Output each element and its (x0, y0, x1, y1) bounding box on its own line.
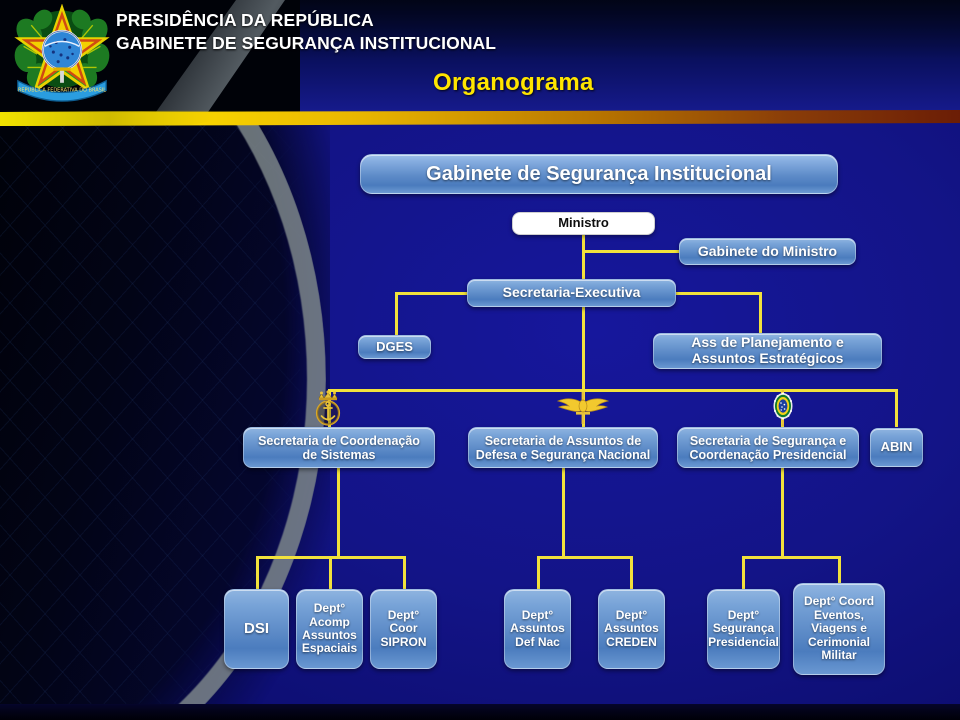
node-dacae-line-1: Dept° (314, 602, 345, 615)
connector-secdef-bus (537, 556, 633, 559)
connector-ministro-gabmin (582, 250, 682, 253)
node-dcevcm-line-5: Militar (821, 649, 856, 662)
node-secdef-line-2: Defesa e Segurança Nacional (476, 448, 650, 462)
node-secretaria-executiva[interactable]: Secretaria-Executiva (467, 279, 676, 307)
node-dacreden-line-3: CREDEN (606, 636, 657, 649)
node-dcsipron-line-3: SIPRON (380, 636, 426, 649)
node-dadn-line-3: Def Nac (515, 636, 560, 649)
node-ministro[interactable]: Ministro (512, 212, 655, 235)
army-star-icon (772, 390, 794, 426)
node-dcevcm-line-4: Cerimonial (808, 636, 870, 649)
organogram-slide: REPUBLICA FEDERATIVA DO BRASIL PRESIDÊNC… (0, 0, 960, 720)
node-dept-seguranca-presidencial[interactable]: Dept° Segurança Presidencial (707, 589, 780, 669)
connector-secexec-asspla-v (759, 292, 762, 334)
node-dacreden-line-2: Assuntos (604, 622, 659, 635)
node-dcsipron-line-1: Dept° (388, 609, 419, 622)
node-abin[interactable]: ABIN (870, 428, 923, 467)
node-dcevcm-line-1: Dept° Coord (804, 595, 874, 608)
connector-secdef-down (562, 468, 565, 558)
node-dacae-line-4: Espaciais (302, 642, 357, 655)
connector-secsis-to-dcsipron (403, 556, 406, 589)
node-ass-planejamento-assuntos-estrategicos[interactable]: Ass de Planejamento e Assuntos Estratégi… (653, 333, 882, 369)
node-dsp-line-3: Presidencial (708, 636, 779, 649)
connector-secdef-to-dadn (537, 556, 540, 589)
connector-main-bus (328, 389, 898, 392)
node-dsp-line-2: Segurança (713, 622, 774, 635)
node-dsi[interactable]: DSI (224, 589, 289, 669)
node-gabinete-do-ministro[interactable]: Gabinete do Ministro (679, 238, 856, 265)
node-secsis-line-2: de Sistemas (303, 448, 376, 462)
connector-secpres-to-dsp (742, 556, 745, 589)
node-secdef-line-1: Secretaria de Assuntos de (485, 434, 642, 448)
node-dept-coor-sipron[interactable]: Dept° Coor SIPRON (370, 589, 437, 669)
node-asspla-line-1: Ass de Planejamento e (691, 335, 844, 351)
connector-secdef-to-dacreden (630, 556, 633, 589)
node-dacae-line-2: Acomp (309, 616, 350, 629)
navy-anchor-icon (313, 389, 343, 427)
connector-secsis-down (337, 468, 340, 558)
connector-ministro-trunk (582, 234, 585, 392)
node-dacae-line-3: Assuntos (302, 629, 357, 642)
header-line-1: PRESIDÊNCIA DA REPÚBLICA (116, 9, 496, 32)
node-dcevcm-line-3: Viagens e (811, 622, 867, 635)
node-dges[interactable]: DGES (358, 335, 431, 359)
node-dept-acomp-assuntos-espaciais[interactable]: Dept° Acomp Assuntos Espaciais (296, 589, 363, 669)
node-gabinete-seguranca-institucional[interactable]: Gabinete de Segurança Institucional (360, 154, 838, 194)
node-dept-assuntos-def-nac[interactable]: Dept° Assuntos Def Nac (504, 589, 571, 669)
node-secpres-line-2: Coordenação Presidencial (689, 448, 846, 462)
svg-text:REPUBLICA FEDERATIVA DO BRASIL: REPUBLICA FEDERATIVA DO BRASIL (18, 87, 106, 93)
connector-secpres-bus (742, 556, 841, 559)
node-asspla-line-2: Assuntos Estratégicos (692, 351, 844, 367)
page-title: Organograma (433, 69, 594, 97)
connector-secsis-to-dsi (256, 556, 259, 589)
node-secretaria-assuntos-defesa-seguranca-nacional[interactable]: Secretaria de Assuntos de Defesa e Segur… (468, 427, 658, 468)
node-dacreden-line-1: Dept° (616, 609, 647, 622)
bottom-strip (0, 704, 960, 720)
node-dept-coord-eventos-viagens-cerimonial-militar[interactable]: Dept° Coord Eventos, Viagens e Cerimonia… (793, 583, 885, 675)
node-dadn-line-2: Assuntos (510, 622, 565, 635)
slide-header: REPUBLICA FEDERATIVA DO BRASIL PRESIDÊNC… (0, 0, 960, 112)
brazil-coat-of-arms-icon: REPUBLICA FEDERATIVA DO BRASIL (14, 4, 110, 104)
connector-secpres-down (781, 468, 784, 558)
node-dadn-line-1: Dept° (522, 609, 553, 622)
node-secpres-line-1: Secretaria de Segurança e (690, 434, 846, 448)
node-secretaria-coordenacao-sistemas[interactable]: Secretaria de Coordenação de Sistemas (243, 427, 435, 468)
header-line-2: GABINETE DE SEGURANÇA INSTITUCIONAL (116, 32, 496, 55)
node-secsis-line-1: Secretaria de Coordenação (258, 434, 420, 448)
connector-secsis-to-dacae (329, 556, 332, 589)
node-dcsipron-line-2: Coor (390, 622, 418, 635)
node-secretaria-seguranca-coordenacao-presidencial[interactable]: Secretaria de Segurança e Coordenação Pr… (677, 427, 859, 468)
air-force-wings-icon (556, 390, 610, 426)
connector-bus-drop-abin (895, 389, 898, 427)
connector-secexec-dges-h (395, 292, 469, 295)
node-dsp-line-1: Dept° (728, 609, 759, 622)
node-dept-assuntos-creden[interactable]: Dept° Assuntos CREDEN (598, 589, 665, 669)
header-brand: PRESIDÊNCIA DA REPÚBLICA GABINETE DE SEG… (116, 9, 496, 55)
node-dcevcm-line-2: Eventos, (814, 609, 864, 622)
connector-secexec-asspla-h (676, 292, 762, 295)
